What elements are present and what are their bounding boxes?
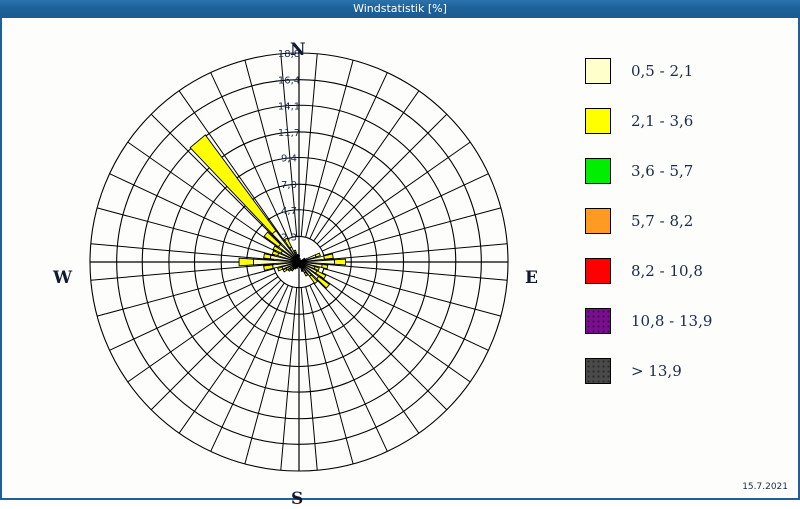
- windrose-petal-segment: [297, 254, 298, 255]
- grid-spoke: [324, 208, 501, 255]
- legend-label: 8,2 - 10,8: [631, 262, 703, 280]
- legend-swatch: [585, 58, 611, 84]
- grid-spoke: [322, 174, 488, 252]
- date-stamp: 15.7.2021: [742, 482, 788, 492]
- grid-spoke: [306, 60, 353, 237]
- windrose-petal-segment: [239, 258, 253, 266]
- speed-legend: 0,5 - 2,12,1 - 3,63,6 - 5,75,7 - 8,28,2 …: [585, 46, 785, 396]
- radial-tick-label: 4,7: [281, 206, 297, 217]
- compass-label-west: W: [53, 268, 72, 288]
- grid-spoke: [281, 287, 297, 470]
- windrose-petal-segment: [335, 259, 346, 265]
- grid-spoke: [314, 283, 419, 433]
- grid-spoke: [317, 114, 447, 244]
- grid-spoke: [245, 287, 292, 464]
- grid-spoke: [310, 73, 388, 239]
- radial-tick-label: 2,3: [281, 232, 297, 243]
- grid-spoke: [324, 264, 507, 280]
- legend-swatch: [585, 258, 611, 284]
- grid-spoke: [97, 208, 274, 255]
- grid-spoke: [310, 285, 388, 451]
- legend-swatch: [585, 358, 611, 384]
- grid-spoke: [151, 280, 281, 410]
- legend-swatch: [585, 308, 611, 334]
- grid-spoke: [314, 91, 419, 241]
- legend-item[interactable]: 0,5 - 2,1: [585, 46, 785, 96]
- legend-swatch: [585, 208, 611, 234]
- windrose-petal-segment: [322, 265, 328, 269]
- window-client-area: 2,34,77,09,411,714,116,418,8 N E S W 0,5…: [0, 18, 800, 500]
- grid-spoke: [211, 285, 289, 451]
- windrose-window: Windstatistik [%] 2,34,77,09,411,714,116…: [0, 0, 800, 500]
- grid-spoke: [317, 280, 447, 410]
- radial-tick-label: 7,0: [281, 180, 297, 191]
- legend-label: 5,7 - 8,2: [631, 212, 693, 230]
- windrose-petal-segment: [294, 250, 296, 253]
- grid-spoke: [128, 277, 278, 382]
- compass-label-east: E: [525, 268, 538, 288]
- grid-spoke: [211, 73, 289, 239]
- grid-spoke: [151, 114, 281, 244]
- legend-item[interactable]: > 13,9: [585, 346, 785, 396]
- legend-item[interactable]: 2,1 - 3,6: [585, 96, 785, 146]
- grid-spoke: [301, 287, 317, 470]
- legend-label: > 13,9: [631, 362, 682, 380]
- grid-spoke: [322, 273, 488, 351]
- legend-label: 2,1 - 3,6: [631, 112, 693, 130]
- legend-swatch: [585, 158, 611, 184]
- grid-spoke: [110, 273, 276, 351]
- windrose-petal-segment: [302, 270, 304, 271]
- grid-spoke: [97, 269, 274, 316]
- grid-spoke: [91, 244, 274, 260]
- legend-item[interactable]: 10,8 - 13,9: [585, 296, 785, 346]
- compass-label-south: S: [291, 489, 303, 509]
- legend-item[interactable]: 3,6 - 5,7: [585, 146, 785, 196]
- radial-tick-label: 9,4: [281, 154, 297, 165]
- grid-spoke: [91, 264, 274, 280]
- grid-spoke: [179, 91, 284, 241]
- legend-label: 3,6 - 5,7: [631, 162, 693, 180]
- grid-spoke: [320, 142, 470, 247]
- legend-label: 0,5 - 2,1: [631, 62, 693, 80]
- grid-spoke: [179, 283, 284, 433]
- window-title: Windstatistik [%]: [0, 0, 800, 18]
- radial-tick-label: 14,1: [278, 101, 300, 112]
- legend-item[interactable]: 5,7 - 8,2: [585, 196, 785, 246]
- grid-spoke: [324, 244, 507, 260]
- grid-spoke: [110, 174, 276, 252]
- grid-spoke: [301, 54, 317, 237]
- grid-spoke: [320, 277, 470, 382]
- radial-tick-label: 11,7: [278, 128, 300, 139]
- legend-swatch: [585, 108, 611, 134]
- grid-spoke: [324, 269, 501, 316]
- compass-label-north: N: [290, 40, 306, 60]
- grid-spoke: [306, 287, 353, 464]
- window-titlebar: Windstatistik [%]: [0, 0, 800, 18]
- radial-tick-label: 16,4: [278, 76, 300, 87]
- legend-item[interactable]: 8,2 - 10,8: [585, 246, 785, 296]
- legend-label: 10,8 - 13,9: [631, 312, 712, 330]
